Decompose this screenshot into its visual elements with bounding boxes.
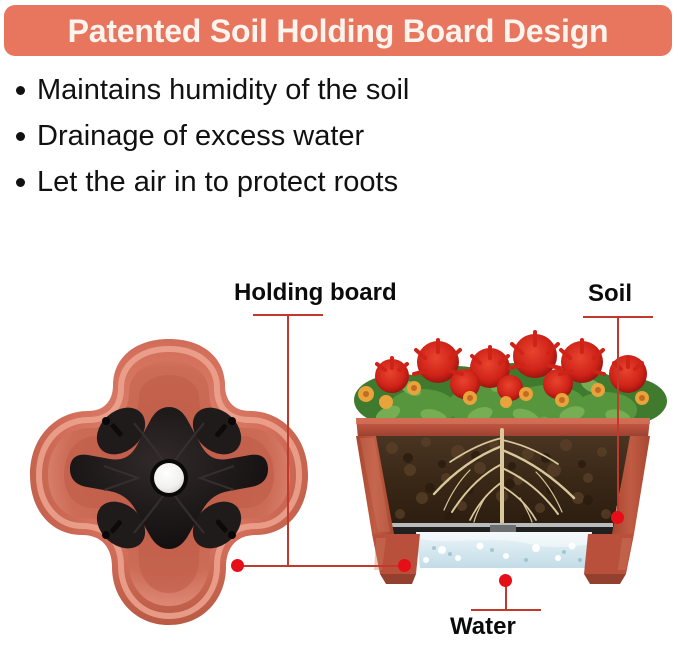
soil-layer (374, 430, 631, 525)
infographic-canvas: Patented Soil Holding Board Design Maint… (0, 0, 679, 652)
marker-holding-board-right (398, 559, 411, 572)
header-banner: Patented Soil Holding Board Design (4, 5, 672, 56)
product-illustration: Holding board Soil Water (0, 240, 679, 652)
bullet-dot-icon (16, 86, 25, 95)
planter-graphic (330, 318, 675, 638)
leader-stem-holding-board (287, 314, 289, 566)
leader-stem-soil (617, 316, 619, 517)
plant-foliage (354, 332, 667, 429)
bullet-dot-icon (16, 178, 25, 187)
leader-stem-water (505, 583, 507, 610)
bullet-dot-icon (16, 132, 25, 141)
list-item: Maintains humidity of the soil (16, 70, 656, 116)
feature-label: Let the air in to protect roots (37, 162, 398, 202)
marker-water (499, 574, 512, 587)
list-item: Let the air in to protect roots (16, 162, 656, 208)
soil-holding-board-tray (18, 335, 320, 635)
list-item: Drainage of excess water (16, 116, 656, 162)
page-title: Patented Soil Holding Board Design (68, 15, 609, 47)
callout-label-soil: Soil (588, 280, 632, 308)
callout-label-water: Water (450, 613, 516, 641)
tray-graphic (18, 335, 320, 635)
callout-label-holding-board: Holding board (234, 279, 397, 307)
leader-arm-holding-board-left (237, 565, 289, 567)
marker-soil (611, 511, 624, 524)
marker-holding-board-left (231, 559, 244, 572)
feature-label: Maintains humidity of the soil (37, 70, 409, 110)
planter-cross-section (330, 318, 675, 638)
leader-arm-holding-board (287, 565, 405, 567)
feature-label: Drainage of excess water (37, 116, 364, 156)
water-reservoir (416, 532, 592, 568)
drainage-hole (154, 463, 184, 493)
feature-list: Maintains humidity of the soil Drainage … (16, 70, 656, 208)
